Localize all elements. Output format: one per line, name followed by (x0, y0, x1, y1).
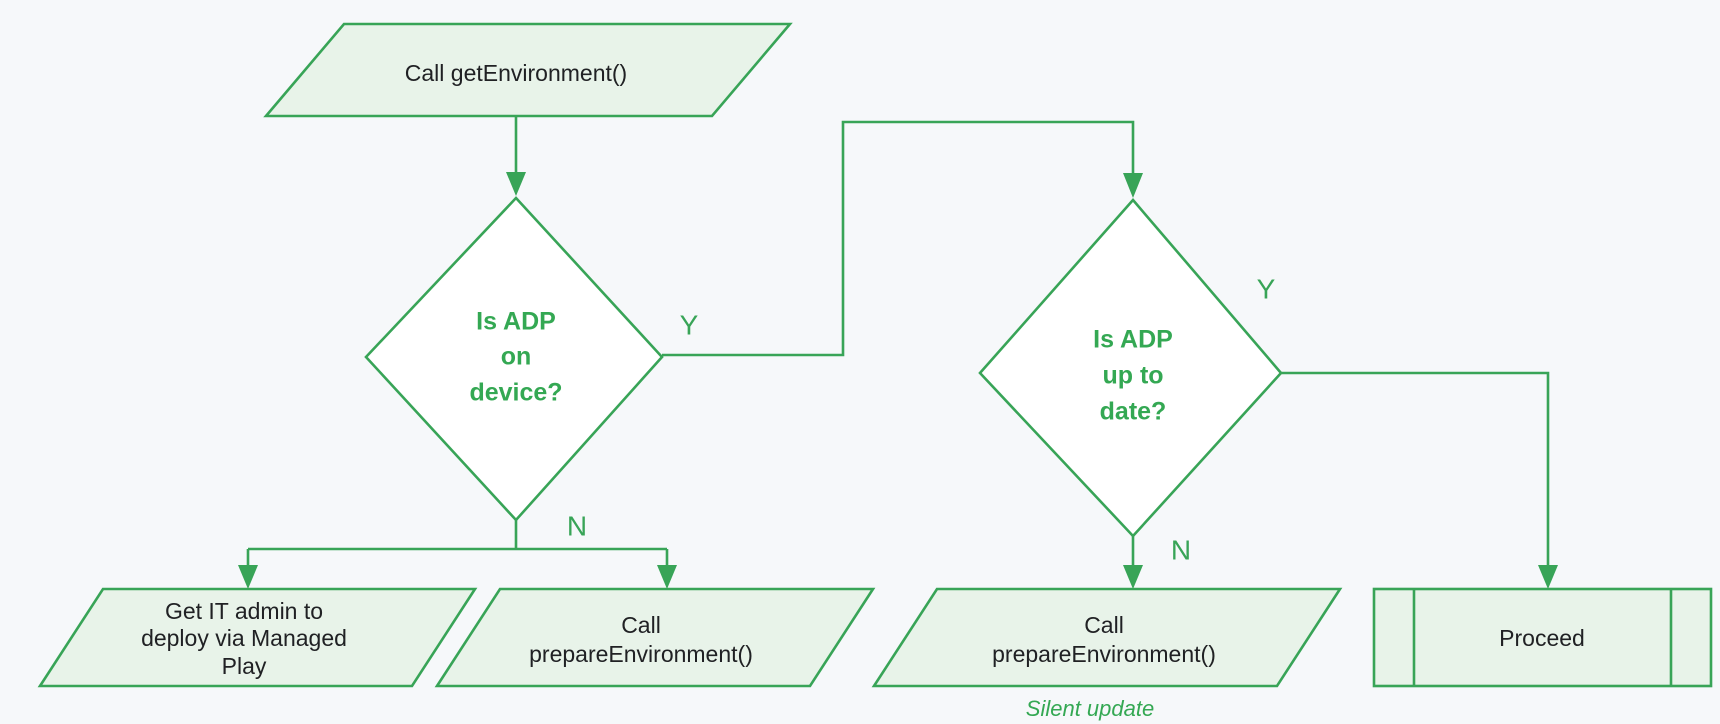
node-call-prepare-environment-left-line1: Call (621, 612, 661, 638)
node-get-it-admin-deploy[interactable]: Get IT admin to deploy via Managed Play (40, 589, 475, 686)
node-proceed[interactable]: Proceed (1374, 589, 1711, 686)
connector-decision2-yes-to-proceed (1281, 373, 1558, 589)
node-call-get-environment[interactable]: Call getEnvironment() (266, 24, 790, 116)
branch-label-decision1-yes: Y (680, 309, 699, 340)
node-call-prepare-environment-left-line2: prepareEnvironment() (529, 641, 753, 667)
flowchart-svg: Call getEnvironment() Is ADP on device? … (0, 0, 1720, 724)
node-is-adp-on-device[interactable]: Is ADP on device? (366, 198, 662, 520)
connector-decision2-no (1123, 536, 1143, 589)
branch-label-decision1-no: N (567, 510, 587, 541)
node-is-adp-on-device-line1: Is ADP (476, 308, 556, 336)
node-is-adp-up-to-date-line1: Is ADP (1093, 326, 1173, 354)
node-call-prepare-environment-right-line2: prepareEnvironment() (992, 641, 1216, 667)
node-proceed-label: Proceed (1499, 625, 1585, 651)
node-get-it-admin-deploy-line2: deploy via Managed (141, 625, 347, 651)
node-is-adp-on-device-line3: device? (469, 379, 562, 407)
node-is-adp-up-to-date[interactable]: Is ADP up to date? (980, 200, 1281, 536)
connector-decision1-no-split (238, 520, 677, 589)
node-is-adp-up-to-date-line3: date? (1100, 398, 1167, 426)
node-get-it-admin-deploy-line3: Play (222, 653, 267, 679)
node-call-get-environment-line1: Call getEnvironment() (405, 60, 627, 86)
branch-label-decision2-yes: Y (1257, 273, 1276, 304)
flowchart-canvas: Call getEnvironment() Is ADP on device? … (0, 0, 1720, 724)
caption-silent-update: Silent update (1026, 696, 1154, 721)
node-call-prepare-environment-right[interactable]: Call prepareEnvironment() (874, 589, 1340, 686)
branch-label-decision2-no: N (1171, 534, 1191, 565)
connector-start-to-decision1 (506, 116, 526, 196)
node-call-prepare-environment-left[interactable]: Call prepareEnvironment() (437, 589, 873, 686)
node-is-adp-up-to-date-line2: up to (1102, 362, 1163, 390)
node-call-prepare-environment-right-line1: Call (1084, 612, 1124, 638)
node-get-it-admin-deploy-line1: Get IT admin to (165, 598, 323, 624)
node-is-adp-on-device-line2: on (501, 343, 532, 371)
